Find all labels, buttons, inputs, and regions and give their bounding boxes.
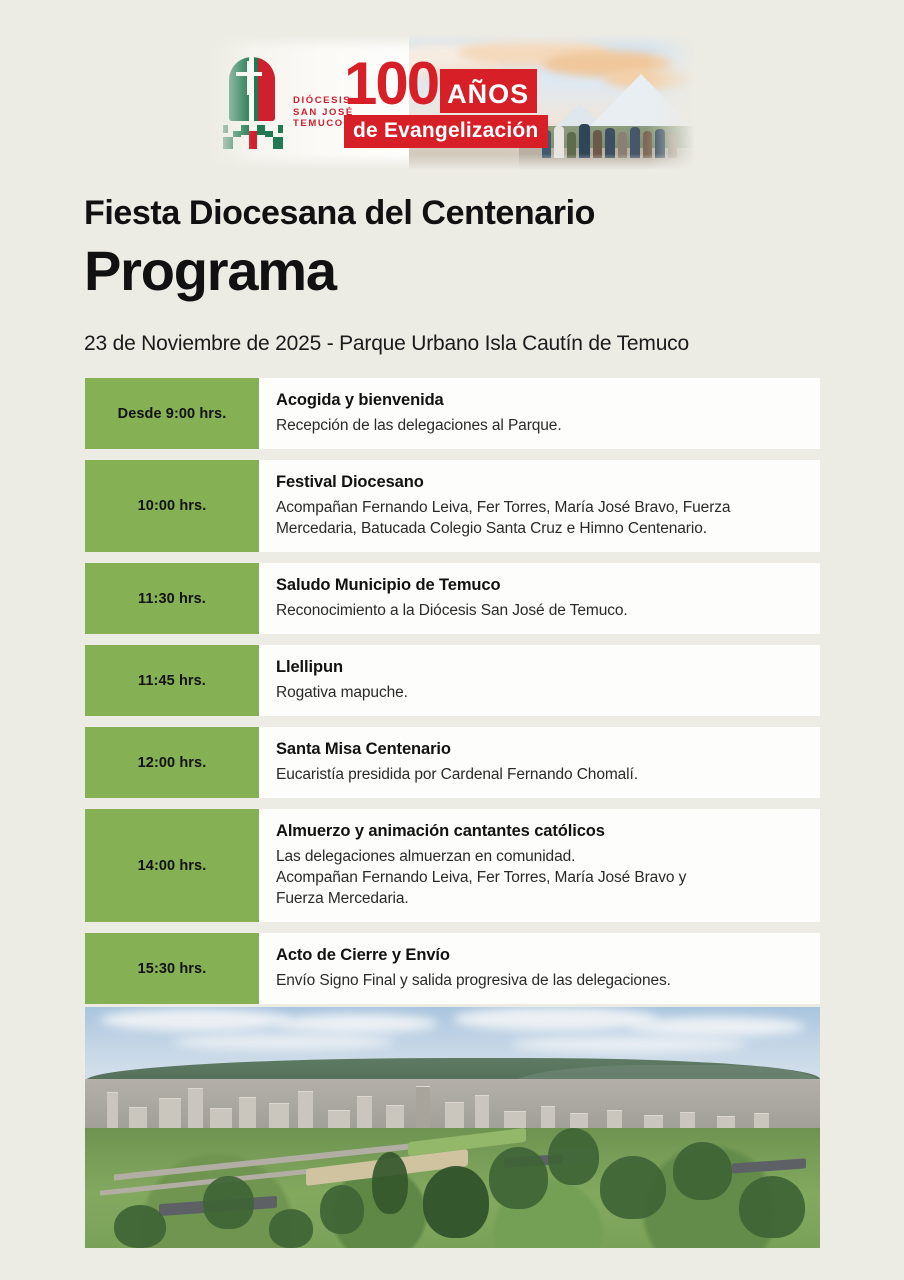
- page-title-line-1: Fiesta Diocesana del Centenario: [84, 194, 595, 233]
- schedule-activity-title: Saludo Municipio de Temuco: [276, 576, 802, 595]
- schedule-time-block: 11:45 hrs.: [85, 645, 259, 716]
- page-title-line-2: Programa: [84, 240, 336, 302]
- schedule-body: Santa Misa CentenarioEucaristía presidid…: [259, 727, 820, 798]
- schedule-activity-description: Eucaristía presidida por Cardenal Fernan…: [276, 764, 802, 785]
- schedule-activity-title: Almuerzo y animación cantantes católicos: [276, 822, 802, 841]
- centenary-banner: DIÓCESIS SAN JOSÉ TEMUCO 100 AÑOS de Eva…: [209, 35, 695, 170]
- schedule-body: Acto de Cierre y EnvíoEnvío Signo Final …: [259, 933, 820, 1004]
- schedule-activity-title: Santa Misa Centenario: [276, 740, 802, 759]
- schedule-row: Desde 9:00 hrs.Acogida y bienvenidaRecep…: [85, 378, 820, 449]
- schedule-activity-title: Llellipun: [276, 658, 802, 677]
- diocese-logo-icon: [223, 57, 289, 149]
- schedule-activity-title: Festival Diocesano: [276, 473, 802, 492]
- schedule-activity-description: Acompañan Fernando Leiva, Fer Torres, Ma…: [276, 497, 802, 539]
- schedule-time-block: 10:00 hrs.: [85, 460, 259, 552]
- schedule-body: Saludo Municipio de TemucoReconocimiento…: [259, 563, 820, 634]
- schedule-time-block: 12:00 hrs.: [85, 727, 259, 798]
- anniversary-top-row: 100 AÑOS: [344, 57, 559, 113]
- program-schedule: Desde 9:00 hrs.Acogida y bienvenidaRecep…: [85, 378, 820, 1015]
- schedule-time-block: 15:30 hrs.: [85, 933, 259, 1004]
- event-date-venue: 23 de Noviembre de 2025 - Parque Urbano …: [84, 332, 689, 356]
- schedule-body: Acogida y bienvenidaRecepción de las del…: [259, 378, 820, 449]
- schedule-activity-description: Recepción de las delegaciones al Parque.: [276, 415, 802, 436]
- schedule-row: 14:00 hrs.Almuerzo y animación cantantes…: [85, 809, 820, 922]
- schedule-time-block: 14:00 hrs.: [85, 809, 259, 922]
- banner-inner: DIÓCESIS SAN JOSÉ TEMUCO 100 AÑOS de Eva…: [209, 35, 695, 170]
- schedule-activity-title: Acto de Cierre y Envío: [276, 946, 802, 965]
- mapuche-step-pattern-icon: [223, 123, 285, 149]
- schedule-time-block: 11:30 hrs.: [85, 563, 259, 634]
- anniversary-number: 100: [344, 57, 438, 111]
- schedule-row: 12:00 hrs.Santa Misa CentenarioEucaristí…: [85, 727, 820, 798]
- schedule-time-block: Desde 9:00 hrs.: [85, 378, 259, 449]
- schedule-activity-title: Acogida y bienvenida: [276, 391, 802, 410]
- schedule-body: Almuerzo y animación cantantes católicos…: [259, 809, 820, 922]
- schedule-row: 15:30 hrs.Acto de Cierre y EnvíoEnvío Si…: [85, 933, 820, 1004]
- schedule-body: Festival DiocesanoAcompañan Fernando Lei…: [259, 460, 820, 552]
- anniversary-tagline: de Evangelización: [344, 115, 548, 148]
- anniversary-lockup: 100 AÑOS de Evangelización: [344, 57, 559, 148]
- temuco-aerial-photo: [85, 1007, 820, 1248]
- schedule-body: LlellipunRogativa mapuche.: [259, 645, 820, 716]
- schedule-row: 11:30 hrs.Saludo Municipio de TemucoReco…: [85, 563, 820, 634]
- anniversary-years-word: AÑOS: [440, 69, 537, 113]
- schedule-row: 11:45 hrs.LlellipunRogativa mapuche.: [85, 645, 820, 716]
- schedule-activity-description: Reconocimiento a la Diócesis San José de…: [276, 600, 802, 621]
- schedule-activity-description: Las delegaciones almuerzan en comunidad.…: [276, 846, 802, 909]
- schedule-row: 10:00 hrs.Festival DiocesanoAcompañan Fe…: [85, 460, 820, 552]
- schedule-activity-description: Rogativa mapuche.: [276, 682, 802, 703]
- schedule-activity-description: Envío Signo Final y salida progresiva de…: [276, 970, 802, 991]
